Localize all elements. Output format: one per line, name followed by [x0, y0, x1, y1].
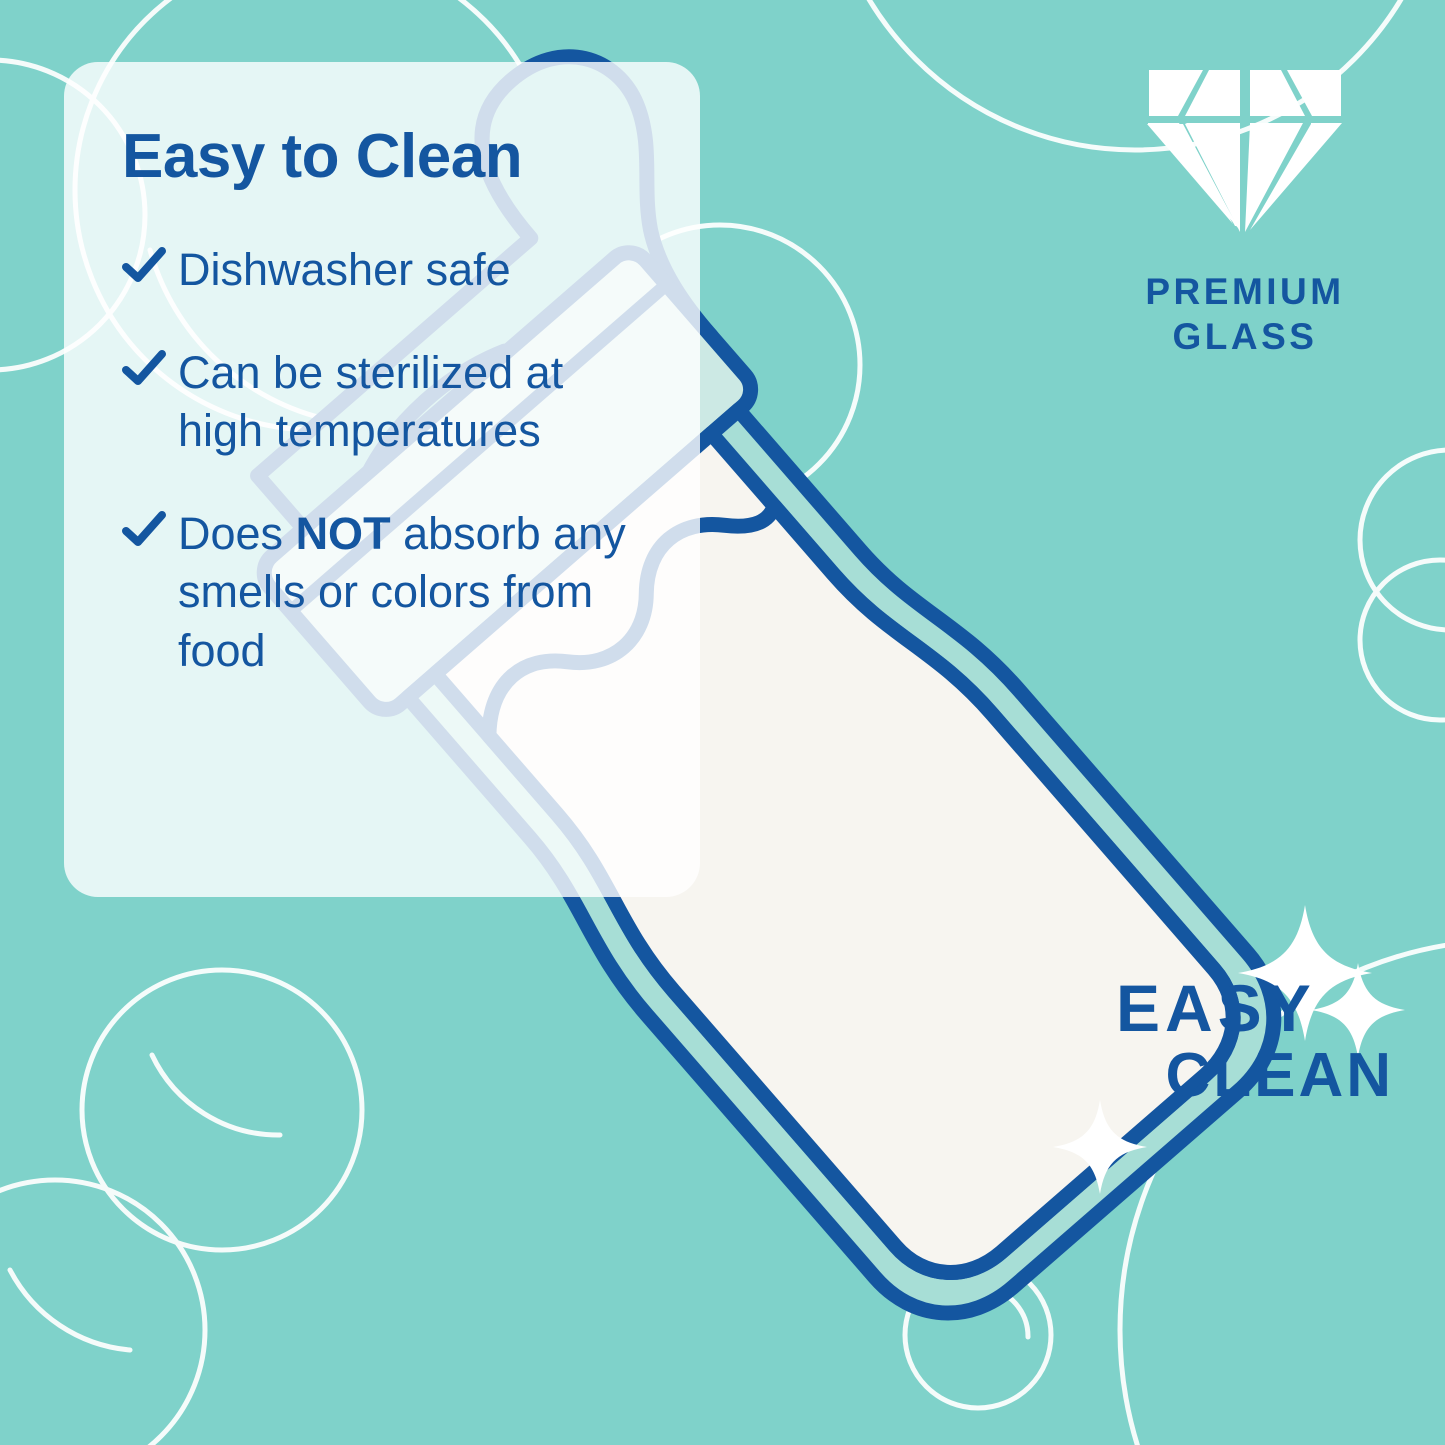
- check-icon: [122, 350, 178, 393]
- check-icon: [122, 511, 178, 554]
- feature-label: Does NOT absorb any smells or colors fro…: [178, 505, 648, 681]
- feature-card: Easy to Clean Dishwasher safe Can be ste…: [64, 62, 700, 897]
- page-title: Easy to Clean: [122, 124, 656, 189]
- premium-glass-badge: PREMIUM GLASS: [1085, 48, 1405, 359]
- emphasis-not: NOT: [296, 508, 391, 559]
- check-icon: [122, 247, 178, 290]
- infographic-canvas: Easy to Clean Dishwasher safe Can be ste…: [0, 0, 1445, 1445]
- feature-item: Does NOT absorb any smells or colors fro…: [122, 505, 656, 681]
- easy-clean-line1: EASY: [1090, 975, 1400, 1041]
- diamond-icon: [1145, 48, 1345, 248]
- easy-clean-line2: CLEAN: [1090, 1041, 1400, 1110]
- premium-glass-label: PREMIUM GLASS: [1085, 269, 1405, 359]
- feature-label: Dishwasher safe: [178, 241, 511, 300]
- easy-clean-badge: EASY CLEAN: [1090, 975, 1400, 1110]
- feature-item: Dishwasher safe: [122, 241, 656, 300]
- feature-label: Can be sterilized at high temperatures: [178, 344, 648, 461]
- feature-item: Can be sterilized at high temperatures: [122, 344, 656, 461]
